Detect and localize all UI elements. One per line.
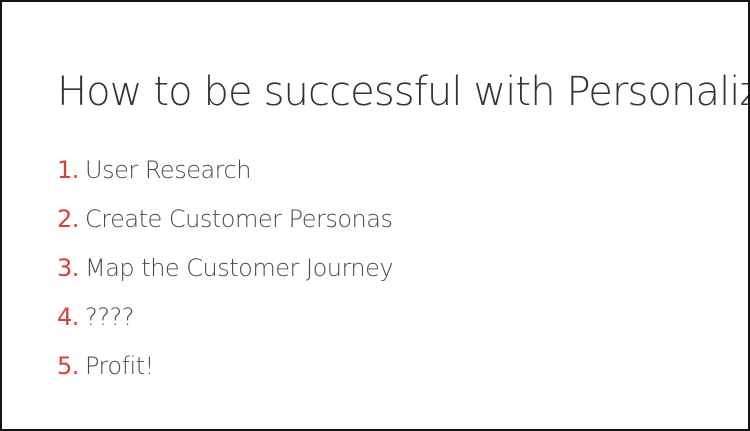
list-item-label: ????	[85, 302, 134, 332]
page-title: How to be successful with Personalizatio…	[57, 70, 717, 115]
numbered-list: 1. User Research 2. Create Customer Pers…	[57, 155, 697, 400]
list-item-marker: 5.	[57, 351, 85, 381]
list-item: 2. Create Customer Personas	[57, 204, 697, 253]
list-item-marker: 2.	[57, 204, 85, 234]
list-item-label: Create Customer Personas	[85, 204, 392, 234]
list-item-label: User Research	[85, 155, 251, 185]
list-item-label: Profit!	[85, 351, 154, 381]
list-item: 5. Profit!	[57, 351, 697, 400]
list-item: 1. User Research	[57, 155, 697, 204]
list-item: 4. ????	[57, 302, 697, 351]
list-item-marker: 4.	[57, 302, 85, 332]
presentation-slide: How to be successful with Personalizatio…	[0, 0, 750, 431]
list-item-marker: 1.	[57, 155, 85, 185]
list-item-marker: 3.	[57, 253, 85, 283]
list-item-label: Map the Customer Journey	[85, 253, 393, 283]
list-item: 3. Map the Customer Journey	[57, 253, 697, 302]
